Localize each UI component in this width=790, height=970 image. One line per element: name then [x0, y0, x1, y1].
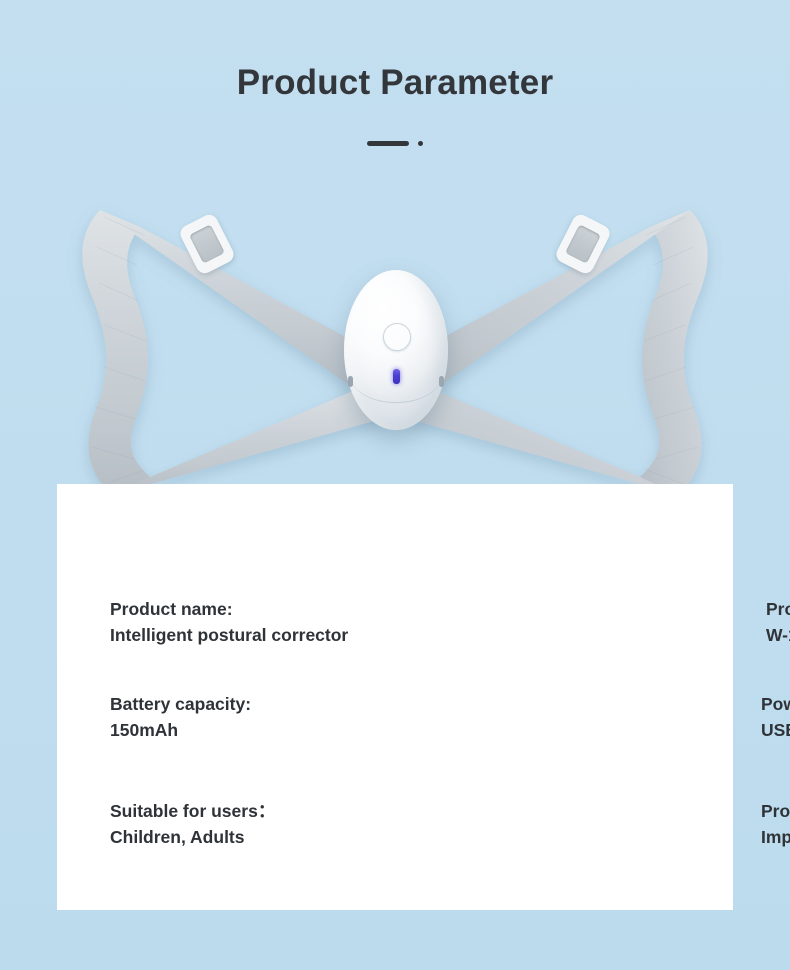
dot-icon — [418, 141, 423, 146]
power-button-icon — [383, 323, 411, 351]
spec-label: Suitable for users： — [110, 799, 382, 823]
spec-card: Product name: Intelligent postural corre… — [57, 484, 733, 910]
spec-item-suitable-users: Suitable for users： Children, Adults — [57, 799, 382, 849]
spec-item-power-supply: Power supply: USB rechargeable — [382, 692, 761, 742]
led-indicator-icon — [393, 369, 400, 384]
strap-left-lower — [112, 383, 388, 495]
corrector-device — [344, 270, 448, 430]
spec-label: Product name: — [110, 597, 382, 621]
strap-right-outer — [640, 210, 708, 495]
spec-item-product-function: Product function: Improve posture — [382, 799, 761, 849]
spec-item-battery-capacity: Battery capacity: 150mAh — [57, 692, 382, 742]
spec-value: 150mAh — [110, 718, 382, 742]
spec-value: Children, Adults — [110, 825, 382, 849]
dash-icon — [367, 141, 409, 146]
strap-left-outer — [82, 210, 150, 495]
spec-row: Suitable for users： Children, Adults Pro… — [57, 799, 733, 849]
spec-row: Product name: Intelligent postural corre… — [57, 597, 733, 647]
spec-item-product-model: Product model: W-102Z — [382, 597, 766, 647]
page-title: Product Parameter — [0, 64, 790, 103]
spec-value: Intelligent postural corrector — [110, 623, 382, 647]
spec-row: Battery capacity: 150mAh Power supply: U… — [57, 692, 733, 742]
page-title-block: Product Parameter — [0, 64, 790, 103]
spec-item-product-name: Product name: Intelligent postural corre… — [57, 597, 382, 647]
spec-grid: Product name: Intelligent postural corre… — [57, 484, 733, 910]
strap-right-lower — [402, 383, 678, 495]
spec-label: Battery capacity: — [110, 692, 382, 716]
title-divider — [0, 137, 790, 149]
